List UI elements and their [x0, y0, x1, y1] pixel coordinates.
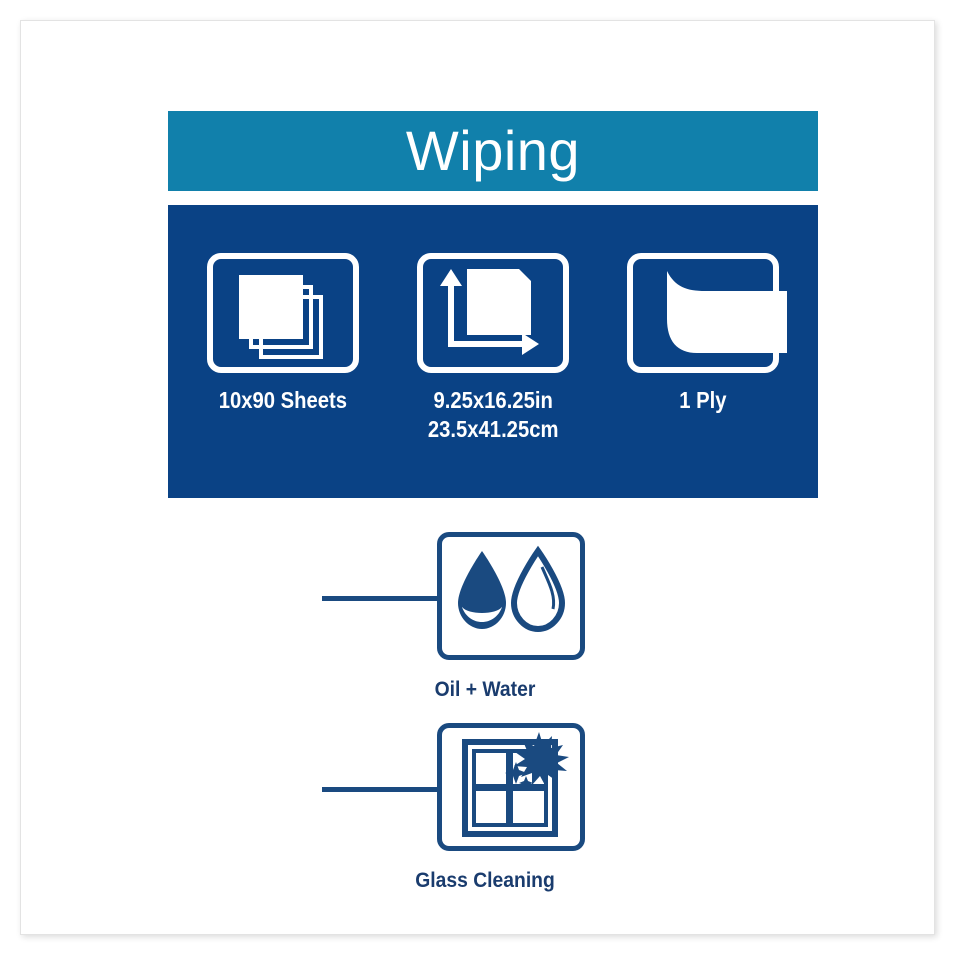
sheet-layer-front — [239, 275, 303, 339]
header-banner: Wiping — [168, 111, 818, 191]
feature-box-oil-water — [437, 532, 585, 660]
product-spec-graphic: Wiping 10x90 Sheets — [0, 0, 970, 971]
spec-item-ply: 1 Ply — [614, 253, 792, 444]
sheet-dimensions-icon — [417, 253, 569, 373]
spec-item-dimensions: 9.25x16.25in 23.5x41.25cm — [404, 253, 582, 444]
spec-item-row: 10x90 Sheets 9. — [168, 253, 818, 444]
feature-box-glass-cleaning — [437, 723, 585, 851]
spec-label-dimensions-cm: 23.5x41.25cm — [428, 416, 559, 442]
connector-line-oil-water — [322, 596, 440, 601]
page-title: Wiping — [406, 123, 580, 179]
spec-label-dimensions-inches: 9.25x16.25in — [433, 387, 552, 413]
curled-sheet-glyph — [631, 257, 787, 381]
spec-label-sheets: 10x90 Sheets — [219, 386, 347, 415]
feature-label-glass-cleaning: Glass Cleaning — [39, 869, 931, 893]
specification-panel: 10x90 Sheets 9. — [168, 205, 818, 498]
oil-water-droplets-icon — [442, 537, 580, 655]
stacked-sheets-icon — [207, 253, 359, 373]
spec-label-dimensions: 9.25x16.25in 23.5x41.25cm — [428, 386, 559, 444]
feature-label-oil-water: Oil + Water — [39, 678, 931, 702]
connector-line-glass-cleaning — [322, 787, 440, 792]
single-ply-sheet-icon — [627, 253, 779, 373]
dimension-arrows-glyph — [423, 259, 563, 367]
glass-window-sparkle-icon — [442, 728, 580, 846]
spec-item-sheets: 10x90 Sheets — [194, 253, 372, 444]
spec-label-ply: 1 Ply — [679, 386, 726, 415]
